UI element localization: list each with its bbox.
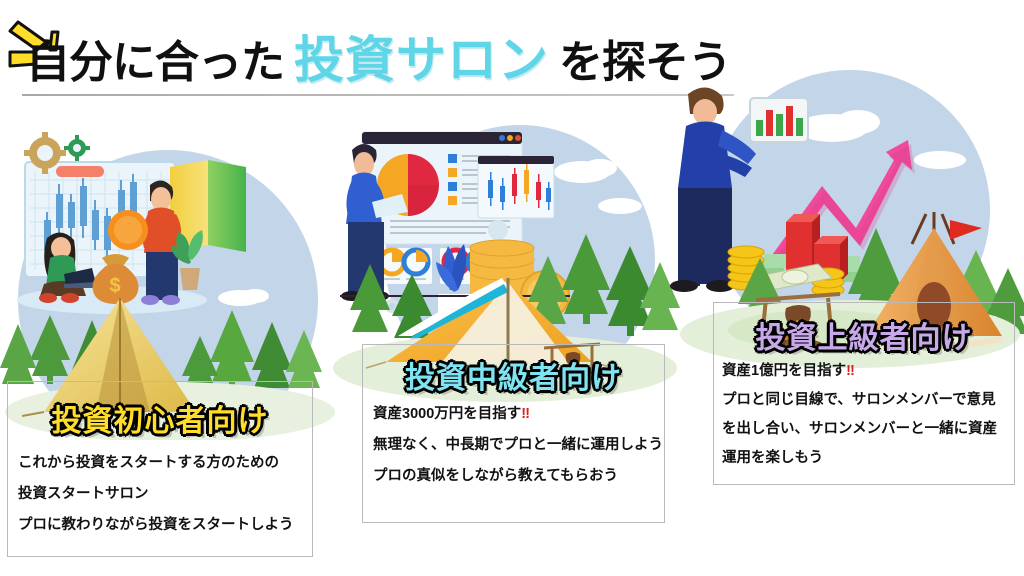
svg-text:$: $ bbox=[109, 275, 120, 297]
card-intermediate-line-1-text: 資産3000万円を目指す bbox=[373, 406, 521, 422]
card-beginner-line-1: これから投資をスタートする方のための bbox=[18, 448, 312, 479]
candlestick-chart bbox=[478, 156, 554, 218]
card-intermediate-line-2: 無理なく、中長期でプロと一緒に運用しよう bbox=[373, 430, 664, 461]
card-advanced[interactable]: 投資上級者向け 資産1億円を目指す‼ プロと同じ目線で、サロンメンバーで意見 を… bbox=[713, 302, 1015, 485]
card-beginner-line-2: 投資スタートサロン bbox=[18, 479, 312, 510]
page-title: 自分に合った投資サロンを探そう bbox=[26, 34, 731, 89]
card-intermediate-heading: 投資中級者向け bbox=[363, 353, 664, 397]
card-intermediate-line-3: プロの真似をしながら教えてもらおう bbox=[373, 461, 664, 492]
card-beginner-line-3: プロに教わりながら投資をスタートしよう bbox=[18, 510, 312, 541]
title-divider bbox=[22, 94, 734, 96]
card-advanced-heading: 投資上級者向け bbox=[714, 313, 1014, 357]
card-advanced-line-1-bang: ‼ bbox=[846, 363, 854, 379]
card-advanced-line-1-text: 資産1億円を目指す bbox=[722, 363, 846, 379]
poster-canvas: 自分に合った投資サロンを探そう bbox=[0, 0, 1024, 576]
card-intermediate-line-1-bang: ‼ bbox=[521, 406, 529, 422]
card-intermediate[interactable]: 投資中級者向け 資産3000万円を目指す‼ 無理なく、中長期でプロと一緒に運用し… bbox=[362, 344, 665, 523]
card-advanced-line-2: プロと同じ目線で、サロンメンバーで意見 bbox=[722, 386, 1014, 415]
title-highlight: 投資サロン bbox=[294, 32, 549, 88]
card-intermediate-line-1: 資産3000万円を目指す‼ bbox=[373, 399, 664, 430]
card-beginner-heading: 投資初心者向け bbox=[8, 396, 312, 440]
card-advanced-body: 資産1億円を目指す‼ プロと同じ目線で、サロンメンバーで意見 を出し合い、サロン… bbox=[714, 357, 1014, 473]
card-advanced-line-1: 資産1億円を目指す‼ bbox=[722, 357, 1014, 386]
card-advanced-line-3: を出し合い、サロンメンバーと一緒に資産 bbox=[722, 415, 1014, 444]
card-beginner-body: これから投資をスタートする方のための 投資スタートサロン プロに教わりながら投資… bbox=[8, 448, 312, 541]
card-advanced-line-4: 運用を楽しもう bbox=[722, 444, 1014, 473]
tablet-bar-chart bbox=[750, 98, 808, 142]
title-prefix: 自分に合った bbox=[26, 38, 284, 87]
card-intermediate-body: 資産3000万円を目指す‼ 無理なく、中長期でプロと一緒に運用しよう プロの真似… bbox=[363, 399, 664, 492]
card-beginner[interactable]: 投資初心者向け これから投資をスタートする方のための 投資スタートサロン プロに… bbox=[7, 381, 313, 557]
